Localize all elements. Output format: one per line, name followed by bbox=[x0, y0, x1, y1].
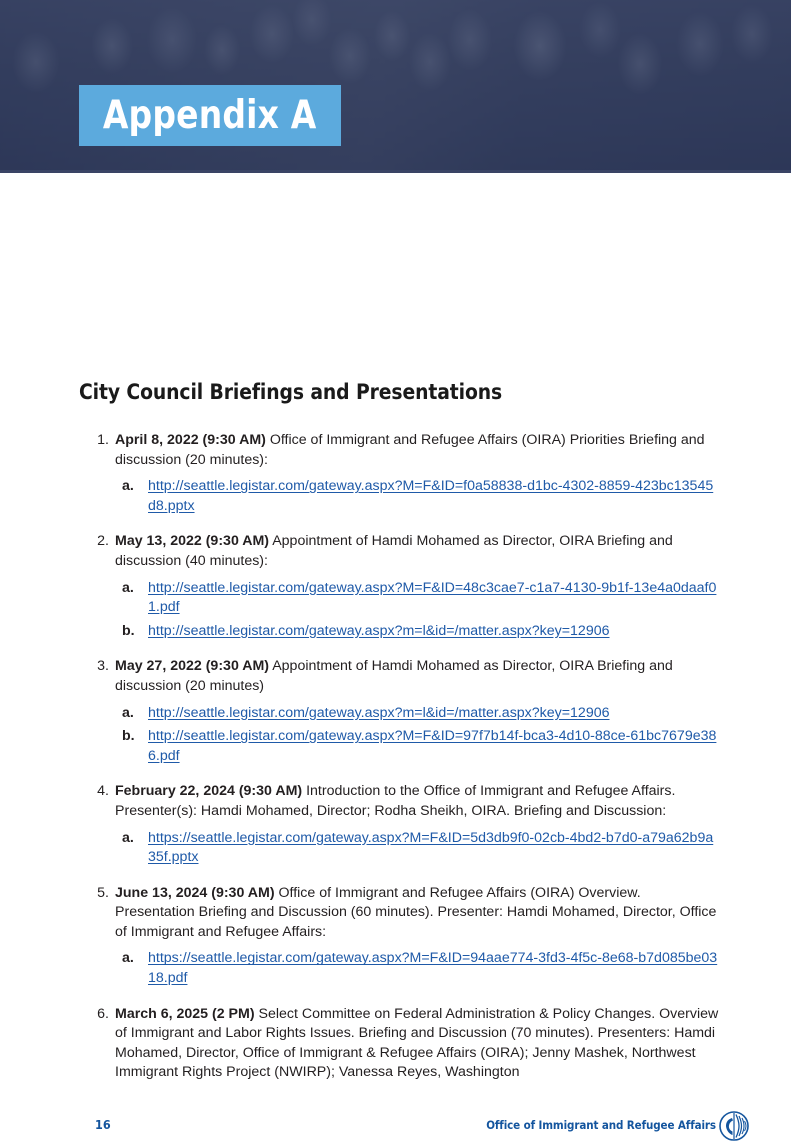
document-link[interactable]: http://seattle.legistar.com/gateway.aspx… bbox=[148, 623, 610, 639]
briefing-item: 1.April 8, 2022 (9:30 AM) Office of Immi… bbox=[79, 431, 719, 516]
page-banner: Appendix A bbox=[0, 0, 791, 173]
document-link[interactable]: http://seattle.legistar.com/gateway.aspx… bbox=[148, 728, 716, 764]
briefing-item-links: a.http://seattle.legistar.com/gateway.as… bbox=[115, 477, 719, 516]
briefing-item-number: 2. bbox=[89, 532, 109, 552]
briefing-link-row: a.https://seattle.legistar.com/gateway.a… bbox=[115, 949, 719, 988]
appendix-title-chip: Appendix A bbox=[79, 85, 341, 146]
briefing-link-letter: a. bbox=[122, 949, 138, 969]
briefing-item-date: April 8, 2022 (9:30 AM) bbox=[115, 432, 266, 448]
briefing-item-text: March 6, 2025 (2 PM) Select Committee on… bbox=[115, 1005, 719, 1083]
document-link[interactable]: http://seattle.legistar.com/gateway.aspx… bbox=[148, 705, 610, 721]
briefing-item-links: a.https://seattle.legistar.com/gateway.a… bbox=[115, 829, 719, 868]
page-footer: 16 Office of Immigrant and Refugee Affai… bbox=[0, 1111, 791, 1145]
briefings-list: 1.April 8, 2022 (9:30 AM) Office of Immi… bbox=[79, 431, 719, 1083]
briefing-link-letter: a. bbox=[122, 704, 138, 724]
banner-bottom-rule bbox=[0, 170, 791, 173]
document-link[interactable]: http://seattle.legistar.com/gateway.aspx… bbox=[148, 478, 713, 514]
briefing-link-row: a.http://seattle.legistar.com/gateway.as… bbox=[115, 579, 719, 618]
briefing-item-date: March 6, 2025 (2 PM) bbox=[115, 1006, 255, 1022]
footer-page-number: 16 bbox=[95, 1117, 111, 1132]
briefing-item-links: a.https://seattle.legistar.com/gateway.a… bbox=[115, 949, 719, 988]
briefing-item-links: a.http://seattle.legistar.com/gateway.as… bbox=[115, 579, 719, 642]
briefing-item: 2.May 13, 2022 (9:30 AM) Appointment of … bbox=[79, 532, 719, 641]
briefing-link-row: a.http://seattle.legistar.com/gateway.as… bbox=[115, 704, 719, 724]
briefing-item-number: 6. bbox=[89, 1005, 109, 1025]
briefing-link-row: b.http://seattle.legistar.com/gateway.as… bbox=[115, 727, 719, 766]
page-title: City Council Briefings and Presentations bbox=[79, 380, 502, 405]
briefing-item-number: 4. bbox=[89, 782, 109, 802]
briefing-item-text: April 8, 2022 (9:30 AM) Office of Immigr… bbox=[115, 431, 719, 470]
briefing-item-links: a.http://seattle.legistar.com/gateway.as… bbox=[115, 704, 719, 767]
briefing-item-date: June 13, 2024 (9:30 AM) bbox=[115, 885, 275, 901]
briefing-item-number: 5. bbox=[89, 884, 109, 904]
briefing-item-number: 3. bbox=[89, 657, 109, 677]
briefing-item-date: May 13, 2022 (9:30 AM) bbox=[115, 533, 269, 549]
briefing-link-row: a.http://seattle.legistar.com/gateway.as… bbox=[115, 477, 719, 516]
briefing-item-text: May 13, 2022 (9:30 AM) Appointment of Ha… bbox=[115, 532, 719, 571]
document-link[interactable]: https://seattle.legistar.com/gateway.asp… bbox=[148, 950, 717, 986]
city-of-seattle-logo bbox=[719, 1111, 749, 1141]
briefing-item-text: June 13, 2024 (9:30 AM) Office of Immigr… bbox=[115, 884, 719, 943]
document-link[interactable]: http://seattle.legistar.com/gateway.aspx… bbox=[148, 580, 716, 616]
briefing-item-text: May 27, 2022 (9:30 AM) Appointment of Ha… bbox=[115, 657, 719, 696]
briefing-item: 3.May 27, 2022 (9:30 AM) Appointment of … bbox=[79, 657, 719, 766]
briefing-link-row: b.http://seattle.legistar.com/gateway.as… bbox=[115, 622, 719, 642]
appendix-title-label: Appendix A bbox=[103, 96, 317, 135]
briefing-item-date: February 22, 2024 (9:30 AM) bbox=[115, 783, 302, 799]
briefing-link-letter: a. bbox=[122, 829, 138, 849]
briefing-item-date: May 27, 2022 (9:30 AM) bbox=[115, 658, 269, 674]
briefing-item-number: 1. bbox=[89, 431, 109, 451]
briefing-item: 6.March 6, 2025 (2 PM) Select Committee … bbox=[79, 1005, 719, 1083]
briefing-link-row: a.https://seattle.legistar.com/gateway.a… bbox=[115, 829, 719, 868]
briefing-link-letter: a. bbox=[122, 477, 138, 497]
briefings-content: 1.April 8, 2022 (9:30 AM) Office of Immi… bbox=[79, 431, 719, 1083]
briefing-link-letter: a. bbox=[122, 579, 138, 599]
document-link[interactable]: https://seattle.legistar.com/gateway.asp… bbox=[148, 830, 713, 866]
briefing-item: 4.February 22, 2024 (9:30 AM) Introducti… bbox=[79, 782, 719, 867]
briefing-item: 5.June 13, 2024 (9:30 AM) Office of Immi… bbox=[79, 884, 719, 989]
footer-organization-name: Office of Immigrant and Refugee Affairs bbox=[486, 1118, 716, 1132]
briefing-link-letter: b. bbox=[122, 622, 138, 642]
briefing-item-text: February 22, 2024 (9:30 AM) Introduction… bbox=[115, 782, 719, 821]
briefing-link-letter: b. bbox=[122, 727, 138, 747]
